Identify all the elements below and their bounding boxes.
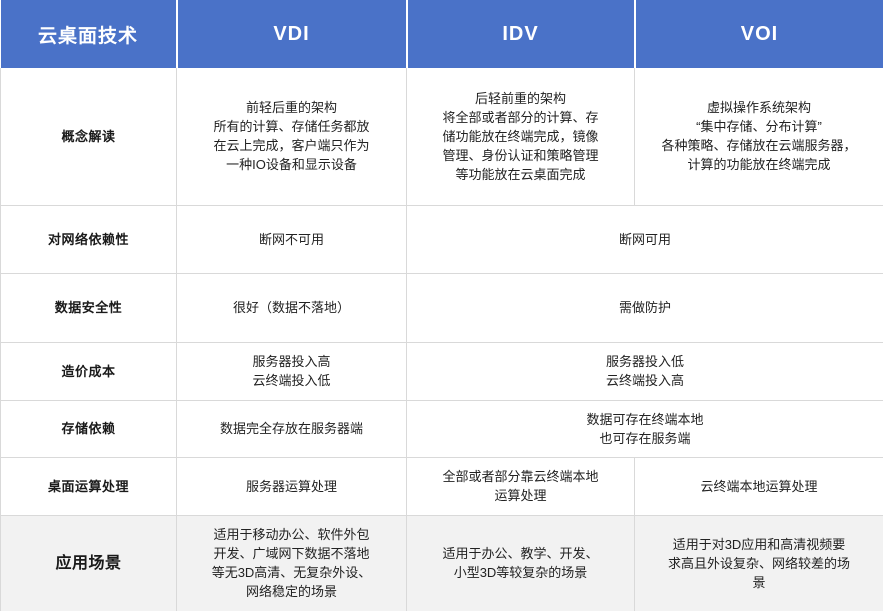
table-row: 造价成本 服务器投入高 云终端投入低 服务器投入低 云终端投入高	[1, 342, 883, 400]
cell-line: 全部或者部分靠云终端本地	[417, 467, 624, 486]
cell-line: 开发、广域网下数据不落地	[187, 544, 396, 563]
cell-line: 所有的计算、存储任务都放	[187, 117, 396, 136]
header-idv: IDV	[407, 0, 635, 68]
cell-storage-idv-voi-merged: 数据可存在终端本地 也可存在服务端	[407, 400, 883, 457]
cell-line: 云终端投入高	[417, 371, 873, 390]
cell-line: 虚拟操作系统架构	[645, 98, 873, 117]
cell-line: 储功能放在终端完成，镜像	[417, 127, 624, 146]
cell-security-vdi: 很好（数据不落地）	[177, 273, 407, 342]
cell-line: 断网不可用	[187, 230, 396, 249]
cell-compute-vdi: 服务器运算处理	[177, 457, 407, 515]
cell-line: 后轻前重的架构	[417, 89, 624, 108]
cell-line: 很好（数据不落地）	[187, 298, 396, 317]
cell-line: 数据可存在终端本地	[417, 410, 873, 429]
cell-line: 管理、身份认证和策略管理	[417, 146, 624, 165]
cell-line: 云终端本地运算处理	[645, 477, 873, 496]
cell-line: 各种策略、存储放在云端服务器，	[645, 136, 873, 155]
cell-line: 求高且外设复杂、网络较差的场	[645, 554, 873, 573]
cell-line: 数据完全存放在服务器端	[187, 419, 396, 438]
cell-line: 景	[645, 573, 873, 592]
cell-line: 适用于办公、教学、开发、	[417, 544, 624, 563]
cell-line: 网络稳定的场景	[187, 582, 396, 601]
cell-line: 等无3D高清、无复杂外设、	[187, 563, 396, 582]
cell-scenario-idv: 适用于办公、教学、开发、 小型3D等较复杂的场景	[407, 515, 635, 611]
cell-line: 需做防护	[417, 298, 873, 317]
table-row: 桌面运算处理 服务器运算处理 全部或者部分靠云终端本地 运算处理 云终端本地运算…	[1, 457, 883, 515]
cell-line: 小型3D等较复杂的场景	[417, 563, 624, 582]
cell-line: 适用于对3D应用和高清视频要	[645, 535, 873, 554]
cell-line: “集中存储、分布计算”	[645, 117, 873, 136]
header-voi: VOI	[635, 0, 883, 68]
row-label-concept: 概念解读	[1, 68, 177, 205]
table-row: 存储依赖 数据完全存放在服务器端 数据可存在终端本地 也可存在服务端	[1, 400, 883, 457]
cell-line: 在云上完成，客户端只作为	[187, 136, 396, 155]
cell-storage-vdi: 数据完全存放在服务器端	[177, 400, 407, 457]
table-row: 应用场景 适用于移动办公、软件外包 开发、广域网下数据不落地 等无3D高清、无复…	[1, 515, 883, 611]
cell-line: 计算的功能放在终端完成	[645, 155, 873, 174]
cell-cost-vdi: 服务器投入高 云终端投入低	[177, 342, 407, 400]
cell-line: 服务器运算处理	[187, 477, 396, 496]
row-label-desktop-computation: 桌面运算处理	[1, 457, 177, 515]
cell-scenario-vdi: 适用于移动办公、软件外包 开发、广域网下数据不落地 等无3D高清、无复杂外设、 …	[177, 515, 407, 611]
cell-line: 前轻后重的架构	[187, 98, 396, 117]
cell-line: 云终端投入低	[187, 371, 396, 390]
row-label-cost: 造价成本	[1, 342, 177, 400]
table-body: 概念解读 前轻后重的架构 所有的计算、存储任务都放 在云上完成，客户端只作为 一…	[1, 68, 883, 611]
row-label-data-security: 数据安全性	[1, 273, 177, 342]
header-vdi: VDI	[177, 0, 407, 68]
cell-compute-voi: 云终端本地运算处理	[635, 457, 883, 515]
cell-line: 一种IO设备和显示设备	[187, 155, 396, 174]
table-row: 数据安全性 很好（数据不落地） 需做防护	[1, 273, 883, 342]
cell-line: 服务器投入高	[187, 352, 396, 371]
table-header-row: 云桌面技术 VDI IDV VOI	[1, 0, 883, 68]
table-row: 概念解读 前轻后重的架构 所有的计算、存储任务都放 在云上完成，客户端只作为 一…	[1, 68, 883, 205]
cell-compute-idv: 全部或者部分靠云终端本地 运算处理	[407, 457, 635, 515]
table-row: 对网络依赖性 断网不可用 断网可用	[1, 205, 883, 273]
cell-network-vdi: 断网不可用	[177, 205, 407, 273]
cell-concept-voi: 虚拟操作系统架构 “集中存储、分布计算” 各种策略、存储放在云端服务器， 计算的…	[635, 68, 883, 205]
row-label-use-cases: 应用场景	[1, 515, 177, 611]
cloud-desktop-comparison-table: 云桌面技术 VDI IDV VOI 概念解读 前轻后重的架构 所有的计算、存储任…	[0, 0, 883, 611]
cell-concept-vdi: 前轻后重的架构 所有的计算、存储任务都放 在云上完成，客户端只作为 一种IO设备…	[177, 68, 407, 205]
cell-security-idv-voi-merged: 需做防护	[407, 273, 883, 342]
cell-line: 适用于移动办公、软件外包	[187, 525, 396, 544]
cell-line: 将全部或者部分的计算、存	[417, 108, 624, 127]
cell-line: 也可存在服务端	[417, 429, 873, 448]
cell-scenario-voi: 适用于对3D应用和高清视频要 求高且外设复杂、网络较差的场 景	[635, 515, 883, 611]
cell-line: 断网可用	[417, 230, 873, 249]
header-category: 云桌面技术	[1, 0, 177, 68]
row-label-storage-dependency: 存储依赖	[1, 400, 177, 457]
cell-line: 等功能放在云桌面完成	[417, 165, 624, 184]
cell-concept-idv: 后轻前重的架构 将全部或者部分的计算、存 储功能放在终端完成，镜像 管理、身份认…	[407, 68, 635, 205]
cell-network-idv-voi-merged: 断网可用	[407, 205, 883, 273]
cell-line: 运算处理	[417, 486, 624, 505]
cell-line: 服务器投入低	[417, 352, 873, 371]
row-label-network-dependency: 对网络依赖性	[1, 205, 177, 273]
cell-cost-idv-voi-merged: 服务器投入低 云终端投入高	[407, 342, 883, 400]
